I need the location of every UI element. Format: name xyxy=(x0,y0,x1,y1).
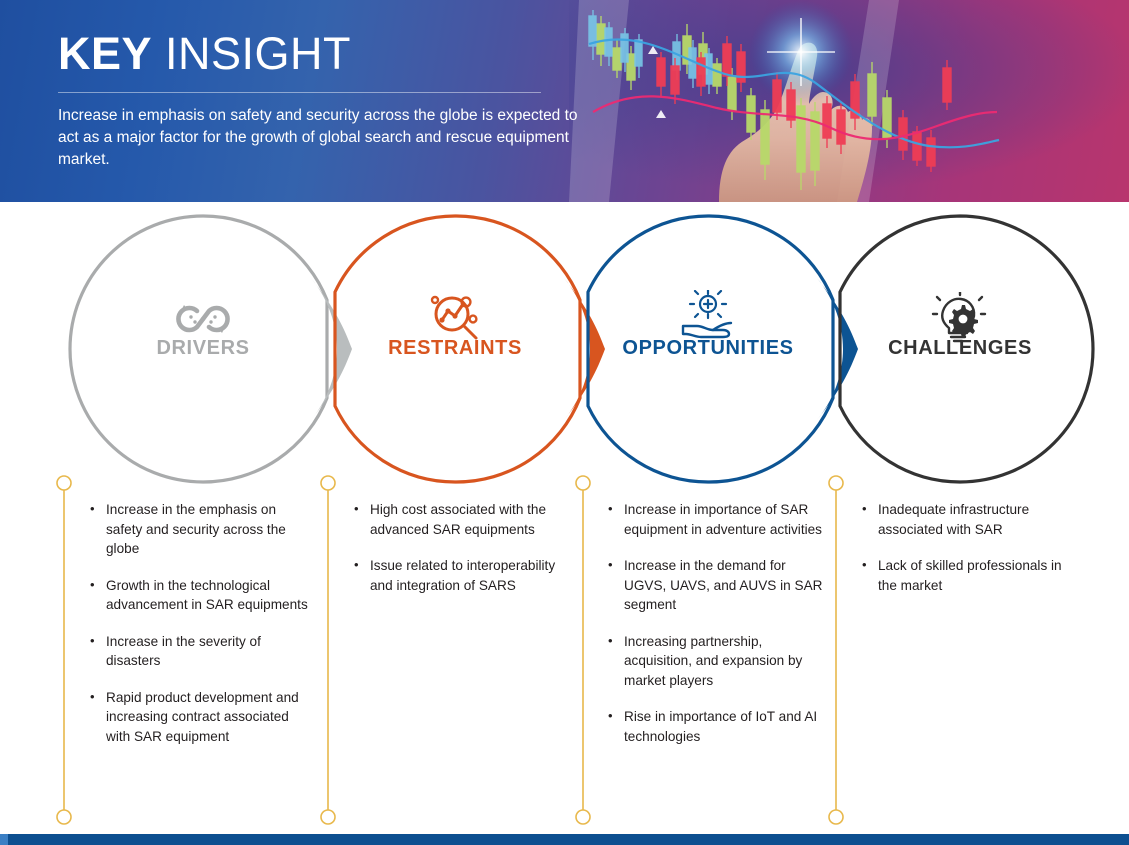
list-item: Increasing partnership, acquisition, and… xyxy=(606,632,826,691)
title-divider xyxy=(58,92,541,93)
footer-bar-accent xyxy=(0,834,8,845)
list-item: Rapid product development and increasing… xyxy=(88,688,308,747)
node-label-opportunities: OPPORTUNITIES xyxy=(622,337,793,360)
list-item: Increase in the demand for UGVS, UAVS, a… xyxy=(606,556,826,615)
list-item: Increase in the emphasis on safety and s… xyxy=(88,500,308,559)
chevron-arrow-gray xyxy=(311,278,352,420)
footer-bar xyxy=(0,834,1129,845)
header-banner: KEY INSIGHT Increase in emphasis on safe… xyxy=(0,0,1129,202)
bullet-list-challenges: Inadequate infrastructure associated wit… xyxy=(860,500,1080,612)
list-item: Issue related to interoperability and in… xyxy=(352,556,572,595)
chevron-arrow-blue xyxy=(817,278,858,420)
list-item: Inadequate infrastructure associated wit… xyxy=(860,500,1080,539)
page-title: KEY INSIGHT xyxy=(58,26,588,82)
infographic-page: KEY INSIGHT Increase in emphasis on safe… xyxy=(0,0,1129,845)
drivers-restraints-opportunities-challenges-diagram: DRIVERS RESTRAINTS OPPORTUNITIES CHALLEN… xyxy=(0,202,1129,845)
list-item: Increase in the severity of disasters xyxy=(88,632,308,671)
header-subtitle: Increase in emphasis on safety and secur… xyxy=(58,105,578,171)
chevron-arrow-orange xyxy=(564,278,605,420)
node-label-drivers: DRIVERS xyxy=(156,337,249,360)
node-label-restraints: RESTRAINTS xyxy=(388,337,522,360)
bullet-list-drivers: Increase in the emphasis on safety and s… xyxy=(88,500,308,763)
bullet-list-restraints: High cost associated with the advanced S… xyxy=(352,500,572,612)
list-item: High cost associated with the advanced S… xyxy=(352,500,572,539)
header-text-block: KEY INSIGHT Increase in emphasis on safe… xyxy=(58,26,588,171)
list-item: Growth in the technological advancement … xyxy=(88,576,308,615)
title-rest: INSIGHT xyxy=(152,28,351,79)
title-strong: KEY xyxy=(58,28,152,79)
list-item: Lack of skilled professionals in the mar… xyxy=(860,556,1080,595)
candlestick-chart-hand-photo xyxy=(569,0,1129,202)
node-label-challenges: CHALLENGES xyxy=(888,337,1032,360)
list-item: Rise in importance of IoT and AI technol… xyxy=(606,707,826,746)
bullet-list-opportunities: Increase in importance of SAR equipment … xyxy=(606,500,826,763)
list-item: Increase in importance of SAR equipment … xyxy=(606,500,826,539)
